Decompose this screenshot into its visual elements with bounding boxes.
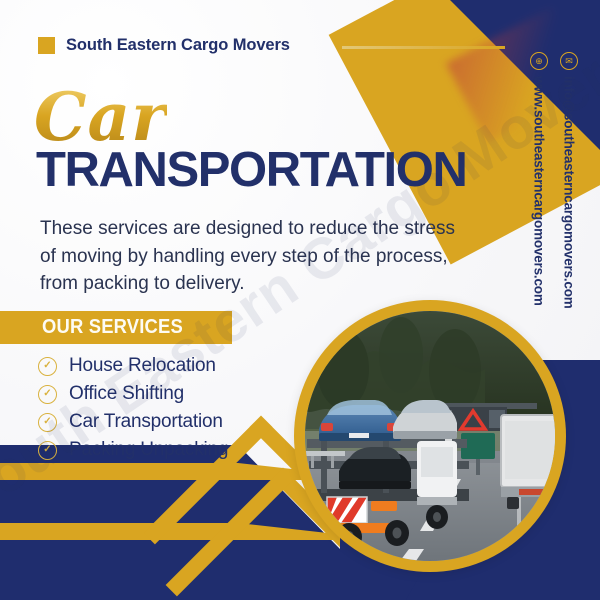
services-heading-text: OUR SERVICES: [42, 316, 183, 339]
list-item[interactable]: ✓ Office Shifting: [38, 383, 228, 405]
body-paragraph: These services are designed to reduce th…: [40, 215, 460, 298]
headline-main: TRANSPORTATION: [36, 146, 466, 195]
services-heading-banner: OUR SERVICES: [0, 311, 232, 344]
photo-gold-ring: [294, 300, 566, 572]
contact-email-text: info@southeasterncargomovers.com: [562, 76, 577, 309]
flyer-canvas: South Eastern Cargo Movers ✉ info@southe…: [0, 0, 600, 600]
envelope-icon: ✉: [560, 52, 578, 70]
brand-row: South Eastern Cargo Movers: [38, 36, 290, 55]
header-divider-line: [342, 46, 505, 49]
check-circle-icon: ✓: [38, 357, 57, 376]
service-label: Office Shifting: [69, 383, 184, 405]
square-bullet-icon: [38, 37, 55, 54]
check-circle-icon: ✓: [38, 413, 57, 432]
globe-icon: ⊕: [530, 52, 548, 70]
services-list: ✓ House Relocation ✓ Office Shifting ✓ C…: [38, 355, 228, 461]
list-item[interactable]: ✓ Car Transportation: [38, 411, 228, 433]
contact-website-text: www.southeasterncargomovers.com: [532, 76, 547, 306]
car-transporter-photo: [305, 311, 555, 561]
contact-column: ✉ info@southeasterncargomovers.com ⊕ www…: [526, 52, 582, 309]
service-label: Car Transportation: [69, 411, 223, 433]
contact-email-block[interactable]: ✉ info@southeasterncargomovers.com: [556, 52, 582, 309]
list-item[interactable]: ✓ Packing Unpacking: [38, 439, 228, 461]
contact-website-block[interactable]: ⊕ www.southeasterncargomovers.com: [526, 52, 552, 309]
check-circle-icon: ✓: [38, 441, 57, 460]
list-item[interactable]: ✓ House Relocation: [38, 355, 228, 377]
service-label: House Relocation: [69, 355, 216, 377]
service-label: Packing Unpacking: [69, 439, 228, 461]
car-transporter-illustration: [305, 311, 555, 561]
check-circle-icon: ✓: [38, 385, 57, 404]
headline-script: Car: [34, 84, 167, 150]
brand-name: South Eastern Cargo Movers: [66, 36, 290, 55]
